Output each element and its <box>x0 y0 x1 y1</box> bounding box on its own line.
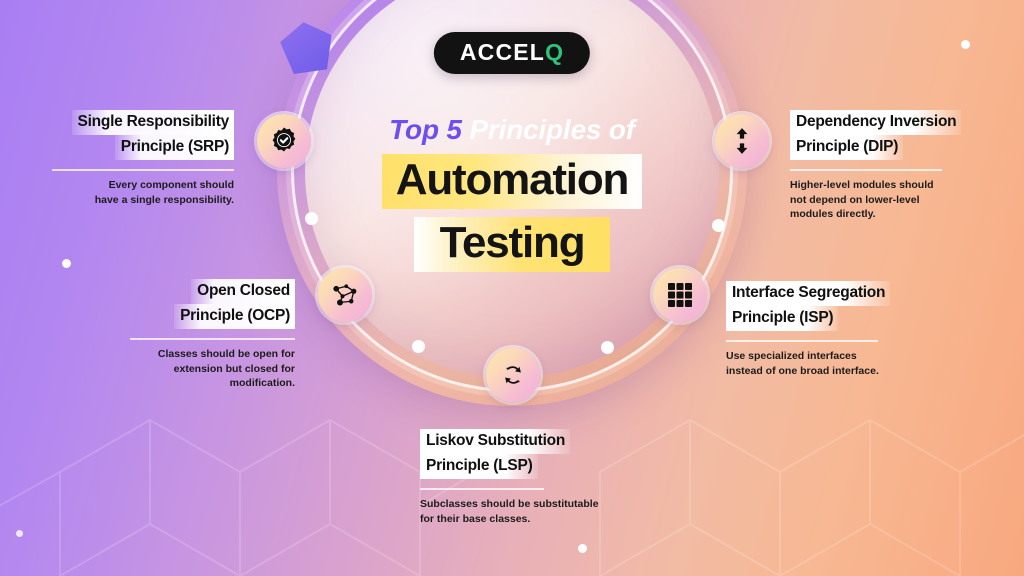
title-line-2: Testing <box>414 217 611 272</box>
principle-desc-line: Every component should <box>52 178 234 193</box>
icon-dip[interactable] <box>715 114 769 168</box>
principle-title-line-1: Dependency Inversion <box>790 110 961 135</box>
principle-title-line-1: Liskov Substitution <box>420 429 570 454</box>
principle-desc-line: have a single responsibility. <box>52 193 234 208</box>
logo-text: ACCELQ <box>460 41 564 64</box>
icon-lsp[interactable] <box>486 348 540 402</box>
title-eyebrow: Top 5 Principles of <box>302 114 722 146</box>
decor-dot <box>62 259 71 268</box>
title-line-1: Automation <box>382 154 642 209</box>
decor-dot <box>16 530 23 537</box>
badge-check-icon <box>269 126 299 156</box>
network-nodes-icon <box>330 280 360 310</box>
divider <box>726 340 878 342</box>
title-eyebrow-highlight: Top 5 <box>389 114 462 145</box>
divider <box>790 169 942 171</box>
page-title: Top 5 Principles of Automation Testing <box>302 114 722 272</box>
logo-accent-letter: Q <box>545 39 564 65</box>
principle-block-dip: Dependency Inversion Principle (DIP) Hig… <box>790 110 980 222</box>
principle-desc-line: for their base classes. <box>420 512 620 527</box>
principle-title-line-2: Principle (LSP) <box>420 454 538 479</box>
principle-title-line-2: Principle (ISP) <box>726 306 838 331</box>
decor-dot <box>961 40 970 49</box>
principle-block-lsp: Liskov Substitution Principle (LSP) Subc… <box>420 429 620 526</box>
principle-description: Every component should have a single res… <box>52 178 234 208</box>
decor-dot <box>578 544 587 553</box>
principle-desc-line: Subclasses should be substitutable <box>420 497 620 512</box>
principle-desc-line: modification. <box>130 376 295 391</box>
ring-marker-dot <box>412 340 425 353</box>
principle-desc-line: extension but closed for <box>130 362 295 377</box>
icon-ocp[interactable] <box>318 268 372 322</box>
principle-title-line-1: Interface Segregation <box>726 281 890 306</box>
grid-3x3-icon <box>667 282 693 308</box>
swap-arrows-icon <box>498 360 528 390</box>
ring-marker-dot <box>601 341 614 354</box>
divider <box>130 338 295 340</box>
principle-desc-line: instead of one broad interface. <box>726 364 916 379</box>
principle-title-line-2: Principle (SRP) <box>115 135 234 160</box>
icon-isp[interactable] <box>653 268 707 322</box>
principle-description: Use specialized interfaces instead of on… <box>726 349 916 379</box>
divider <box>52 169 234 171</box>
principle-description: Classes should be open for extension but… <box>130 347 295 392</box>
principle-desc-line: Classes should be open for <box>130 347 295 362</box>
up-down-arrows-icon <box>729 127 755 155</box>
title-eyebrow-rest: Principles of <box>462 114 635 145</box>
principle-block-isp: Interface Segregation Principle (ISP) Us… <box>726 281 916 378</box>
icon-srp[interactable] <box>257 114 311 168</box>
principle-block-srp: Single Responsibility Principle (SRP) Ev… <box>52 110 234 207</box>
principle-title-line-1: Open Closed <box>191 279 295 304</box>
divider <box>420 488 544 490</box>
principle-description: Higher-level modules should not depend o… <box>790 178 980 223</box>
principle-desc-line: Higher-level modules should <box>790 178 980 193</box>
principle-desc-line: not depend on lower-level <box>790 193 980 208</box>
principle-title-line-2: Principle (DIP) <box>790 135 903 160</box>
principle-description: Subclasses should be substitutable for t… <box>420 497 620 527</box>
principle-desc-line: Use specialized interfaces <box>726 349 916 364</box>
infographic-root: { "brand": { "logo_text": "ACCEL", "logo… <box>0 0 1024 576</box>
logo-text-main: ACCEL <box>460 39 545 65</box>
principle-block-ocp: Open Closed Principle (OCP) Classes shou… <box>130 279 295 391</box>
principle-title-line-1: Single Responsibility <box>72 110 235 135</box>
principle-desc-line: modules directly. <box>790 207 980 222</box>
accelq-logo: ACCELQ <box>434 32 590 74</box>
principle-title-line-2: Principle (OCP) <box>174 304 295 329</box>
